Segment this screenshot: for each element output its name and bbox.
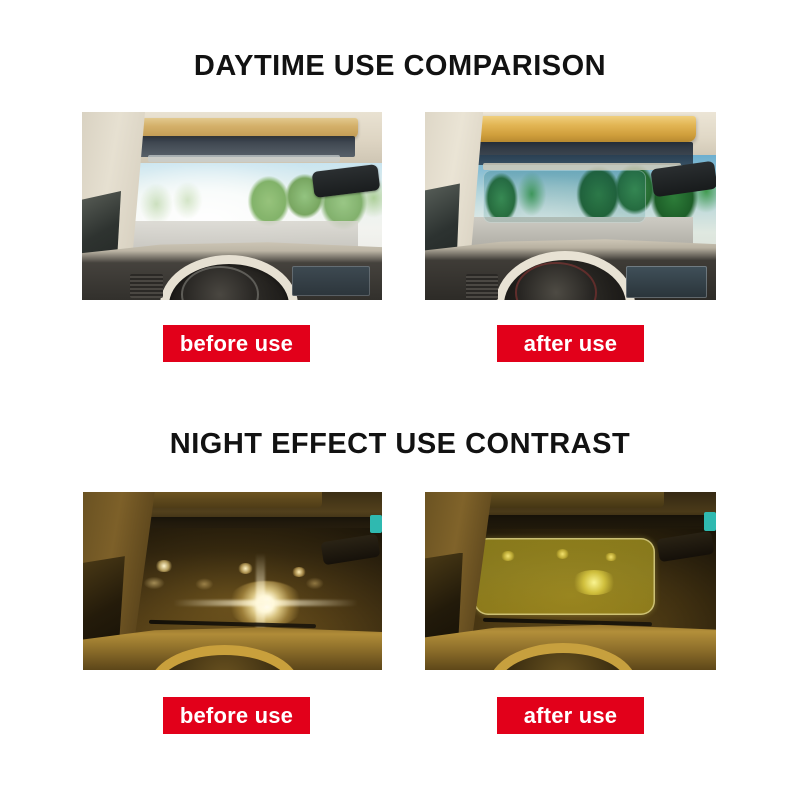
- night-section-title: NIGHT EFFECT USE CONTRAST: [0, 428, 800, 461]
- photo-daytime-after: [425, 112, 716, 300]
- air-vent: [466, 274, 498, 300]
- photo-night-before: [83, 492, 382, 670]
- sun-visor: [136, 118, 358, 139]
- sun-visor: [483, 492, 663, 508]
- street-lamp: [155, 560, 173, 572]
- label-daytime-after: after use: [497, 325, 644, 362]
- photo-daytime-after-scene: [425, 112, 716, 300]
- label-night-before: before use: [163, 697, 310, 734]
- visor-lower-strip: [148, 155, 340, 162]
- daytime-section-title: DAYTIME USE COMPARISON: [0, 50, 800, 83]
- photo-night-before-scene: [83, 492, 382, 670]
- photo-daytime-before-scene: [82, 112, 382, 300]
- photo-night-after: [425, 492, 716, 670]
- headlight-glare-ray-horizontal: [173, 600, 358, 606]
- label-daytime-before: before use: [163, 325, 310, 362]
- tinted-lens-overlay: [483, 170, 646, 223]
- center-console-screen: [626, 266, 707, 298]
- product-comparison-page: DAYTIME USE COMPARISON: [0, 0, 800, 800]
- photo-night-after-scene: [425, 492, 716, 670]
- visor-dark-panel: [139, 136, 355, 157]
- air-vent: [130, 274, 163, 298]
- photo-daytime-before: [82, 112, 382, 300]
- yellow-anti-glare-lens: [474, 538, 654, 615]
- label-night-after: after use: [497, 697, 644, 734]
- street-lamp: [292, 567, 305, 577]
- center-console-screen: [292, 266, 370, 296]
- sun-visor: [149, 492, 322, 508]
- softened-headlight-glow: [571, 570, 618, 595]
- visor-lower-strip: [483, 163, 681, 171]
- windshield-sticker-tab: [370, 515, 382, 533]
- anti-glare-visor: [466, 116, 696, 142]
- visor-dark-panel: [472, 142, 693, 165]
- windshield-sticker-tab: [704, 512, 716, 532]
